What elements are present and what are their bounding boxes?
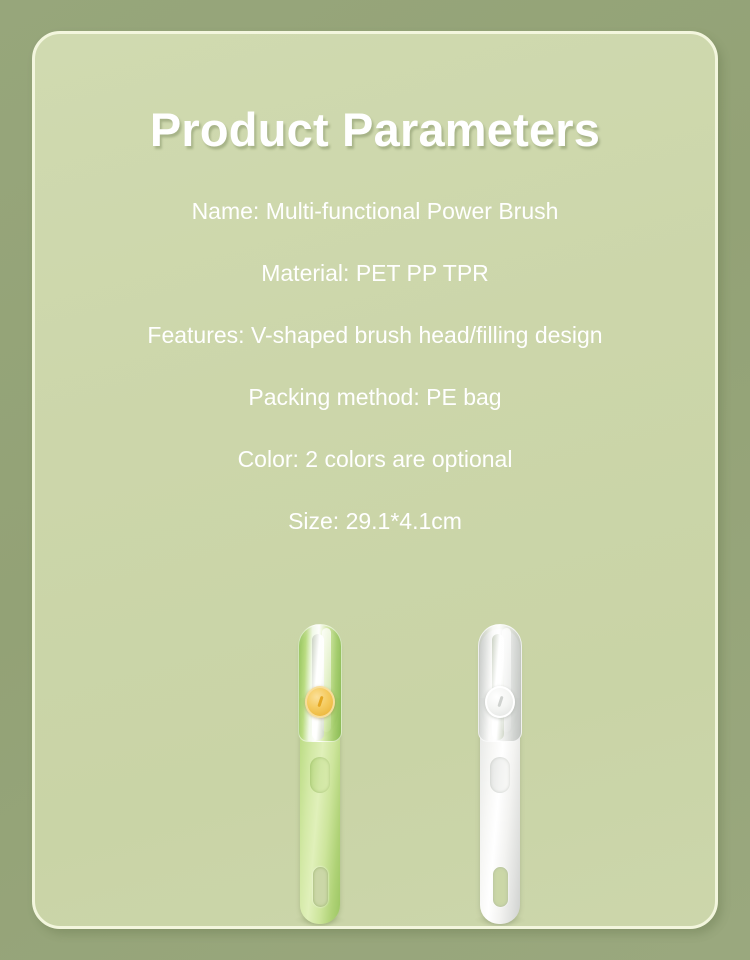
product-images [35, 594, 715, 929]
power-symbol-icon [497, 696, 503, 707]
power-button [305, 686, 335, 718]
power-symbol-icon [317, 696, 323, 707]
spec-row-size: Size: 29.1*4.1cm [35, 510, 715, 533]
product-image-green-brush [260, 594, 380, 929]
product-image-white-brush [440, 594, 560, 929]
spec-row-color: Color: 2 colors are optional [35, 448, 715, 471]
product-parameters-page: Product Parameters Name: Multi-functiona… [0, 0, 750, 960]
spec-row-material: Material: PET PP TPR [35, 262, 715, 285]
page-title: Product Parameters [35, 102, 715, 157]
spec-row-features: Features: V-shaped brush head/filling de… [35, 324, 715, 347]
hanging-hole [313, 867, 328, 907]
hanging-hole [493, 867, 508, 907]
handle-grip-indent [490, 757, 510, 793]
handle-grip-indent [310, 757, 330, 793]
spec-row-packing-method: Packing method: PE bag [35, 386, 715, 409]
spec-list: Name: Multi-functional Power Brush Mater… [35, 200, 715, 572]
power-button [485, 686, 515, 718]
parameters-card: Product Parameters Name: Multi-functiona… [32, 31, 718, 929]
spec-row-name: Name: Multi-functional Power Brush [35, 200, 715, 223]
